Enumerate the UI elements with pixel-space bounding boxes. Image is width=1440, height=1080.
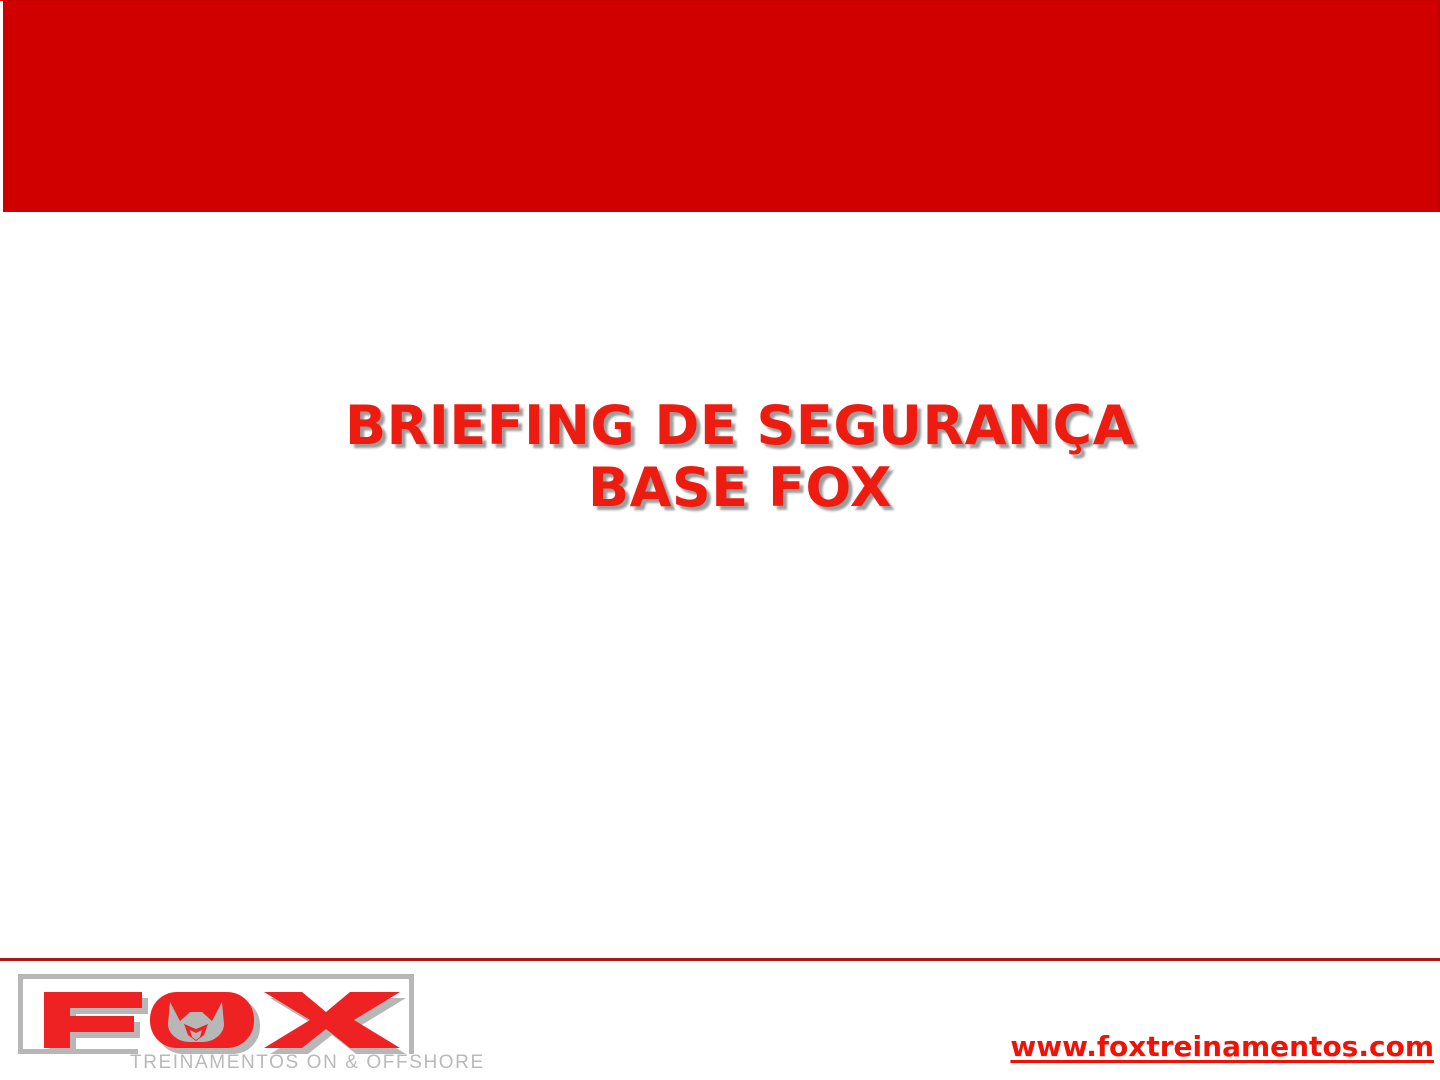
logo-tagline: TREINAMENTOS ON & OFFSHORE (130, 1052, 485, 1074)
title-slide: BRIEFING DE SEGURANÇA BASE FOX (0, 0, 1440, 1080)
website-url-link[interactable]: www.foxtreinamentos.com (1010, 1030, 1434, 1063)
title-line-1: BRIEFING DE SEGURANÇA (120, 395, 1360, 457)
logo-letter-o (150, 992, 260, 1054)
logo-letter-x (264, 992, 406, 1054)
footer-divider (0, 957, 1440, 961)
fox-wordmark (14, 972, 426, 1056)
header-band-left-edge (0, 1, 3, 213)
title-line-2: BASE FOX (120, 457, 1360, 519)
page-title: BRIEFING DE SEGURANÇA BASE FOX (120, 395, 1360, 519)
header-red-band (0, 0, 1440, 212)
logo-letter-f (44, 992, 148, 1054)
fox-logo: TREINAMENTOS ON & OFFSHORE (14, 972, 426, 1076)
